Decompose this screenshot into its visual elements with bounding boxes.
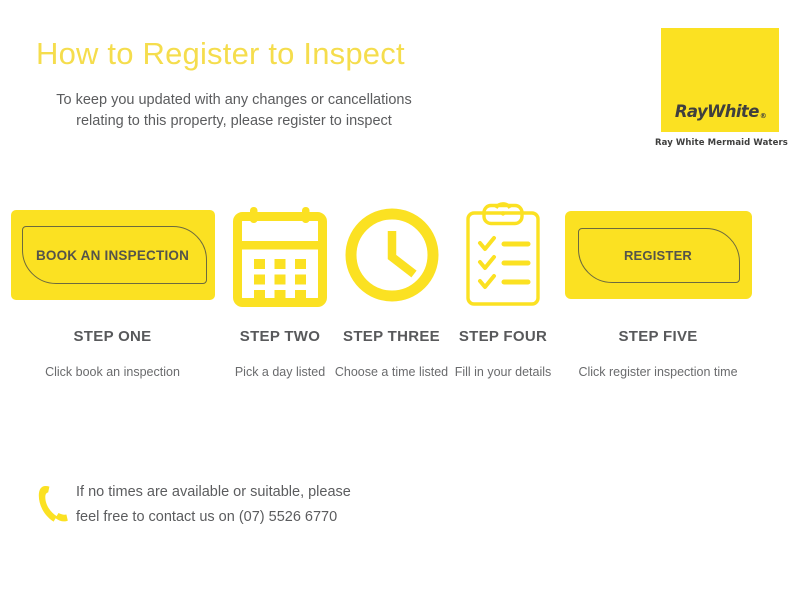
logo-wordmark-text: RayWhite bbox=[675, 102, 759, 121]
step-four-description: Fill in your details bbox=[455, 365, 552, 379]
calendar-icon bbox=[233, 203, 327, 307]
register-button[interactable]: REGISTER bbox=[565, 211, 752, 299]
footer-line-2: feel free to contact us on (07) 5526 677… bbox=[76, 505, 351, 530]
step-one-name: STEP ONE bbox=[74, 328, 152, 345]
phone-icon bbox=[36, 483, 70, 527]
step-five-description: Click register inspection time bbox=[578, 365, 737, 379]
clock-icon bbox=[342, 205, 442, 305]
step-five: REGISTER STEP FIVE Click register inspec… bbox=[558, 196, 758, 379]
step-two-description: Pick a day listed bbox=[235, 365, 325, 379]
subtitle-line-1: To keep you updated with any changes or … bbox=[34, 90, 434, 111]
step-one-description: Click book an inspection bbox=[45, 365, 180, 379]
registered-mark-icon: ® bbox=[760, 112, 766, 120]
step-two-art bbox=[233, 196, 327, 314]
page-title: How to Register to Inspect bbox=[36, 36, 405, 72]
step-four-name: STEP FOUR bbox=[459, 328, 547, 345]
clipboard-checklist-icon bbox=[463, 201, 543, 309]
book-an-inspection-label: BOOK AN INSPECTION bbox=[36, 248, 189, 263]
footer-text: If no times are available or suitable, p… bbox=[76, 480, 351, 530]
step-two: STEP TWO Pick a day listed bbox=[225, 196, 335, 379]
subtitle-line-2: relating to this property, please regist… bbox=[34, 111, 434, 132]
ray-white-logo: RayWhite® Ray White Mermaid Waters bbox=[655, 28, 785, 148]
step-two-name: STEP TWO bbox=[240, 328, 320, 345]
book-an-inspection-button[interactable]: BOOK AN INSPECTION bbox=[11, 210, 215, 300]
step-five-name: STEP FIVE bbox=[618, 328, 697, 345]
header: How to Register to Inspect To keep you u… bbox=[0, 0, 800, 170]
step-one-art: BOOK AN INSPECTION bbox=[11, 196, 215, 314]
step-four: STEP FOUR Fill in your details bbox=[448, 196, 558, 379]
logo-wordmark: RayWhite® bbox=[661, 102, 779, 121]
page-subtitle: To keep you updated with any changes or … bbox=[34, 90, 434, 132]
step-five-art: REGISTER bbox=[565, 196, 752, 314]
poster-canvas: How to Register to Inspect To keep you u… bbox=[0, 0, 800, 600]
footer-line-1: If no times are available or suitable, p… bbox=[76, 480, 351, 505]
logo-square: RayWhite® bbox=[661, 28, 779, 132]
step-three-art bbox=[342, 196, 442, 314]
step-three-name: STEP THREE bbox=[343, 328, 440, 345]
logo-caption: Ray White Mermaid Waters bbox=[655, 138, 785, 148]
step-three-description: Choose a time listed bbox=[335, 365, 448, 379]
step-three: STEP THREE Choose a time listed bbox=[335, 196, 448, 379]
footer-contact: If no times are available or suitable, p… bbox=[36, 480, 351, 530]
register-label: REGISTER bbox=[624, 248, 692, 263]
step-four-art bbox=[463, 196, 543, 314]
step-one: BOOK AN INSPECTION STEP ONE Click book a… bbox=[0, 196, 225, 379]
steps-row: BOOK AN INSPECTION STEP ONE Click book a… bbox=[0, 196, 800, 379]
